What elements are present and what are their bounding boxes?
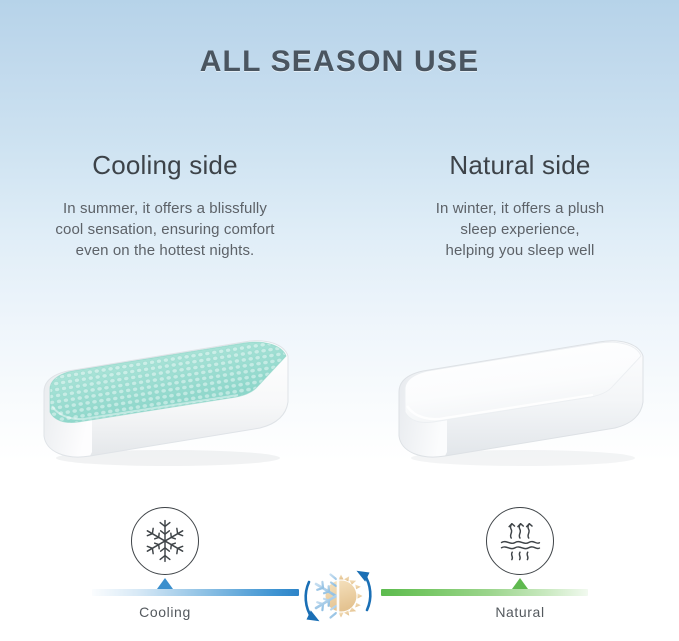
cooling-desc-line-3: even on the hottest nights.	[15, 240, 315, 261]
cooling-marker-triangle	[157, 578, 173, 589]
natural-side-description: In winter, it offers a plush sleep exper…	[370, 198, 670, 261]
cooling-side-column: Cooling side In summer, it offers a blis…	[15, 150, 315, 261]
natural-desc-line-3: helping you sleep well	[370, 240, 670, 261]
cooling-side-description: In summer, it offers a blissfully cool s…	[15, 198, 315, 261]
page-title: ALL SEASON USE	[0, 45, 679, 79]
breathable-airflow-icon	[487, 508, 553, 574]
cooling-desc-line-1: In summer, it offers a blissfully	[15, 198, 315, 219]
natural-foam-pillow-image	[385, 330, 655, 470]
cooling-gel-pillow-image	[30, 330, 300, 470]
natural-desc-line-2: sleep experience,	[370, 219, 670, 240]
cooling-side-heading: Cooling side	[15, 150, 315, 180]
cooling-spectrum-bar	[92, 589, 299, 596]
snowflake-icon	[132, 508, 198, 574]
cooling-bar-label: Cooling	[85, 604, 245, 620]
natural-spectrum-bar	[381, 589, 588, 596]
natural-side-heading: Natural side	[370, 150, 670, 180]
season-cycle-badge	[293, 552, 383, 640]
season-cycle-icon	[293, 552, 383, 640]
natural-desc-line-1: In winter, it offers a plush	[370, 198, 670, 219]
breathability-badge	[486, 507, 554, 575]
natural-marker-triangle	[512, 578, 528, 589]
snowflake-badge	[131, 507, 199, 575]
natural-bar-label: Natural	[440, 604, 600, 620]
all-season-use-poster: ALL SEASON USE Cooling side In summer, i…	[0, 0, 679, 641]
natural-side-column: Natural side In winter, it offers a plus…	[370, 150, 670, 261]
sun-half-icon	[326, 575, 363, 618]
cooling-desc-line-2: cool sensation, ensuring comfort	[15, 219, 315, 240]
